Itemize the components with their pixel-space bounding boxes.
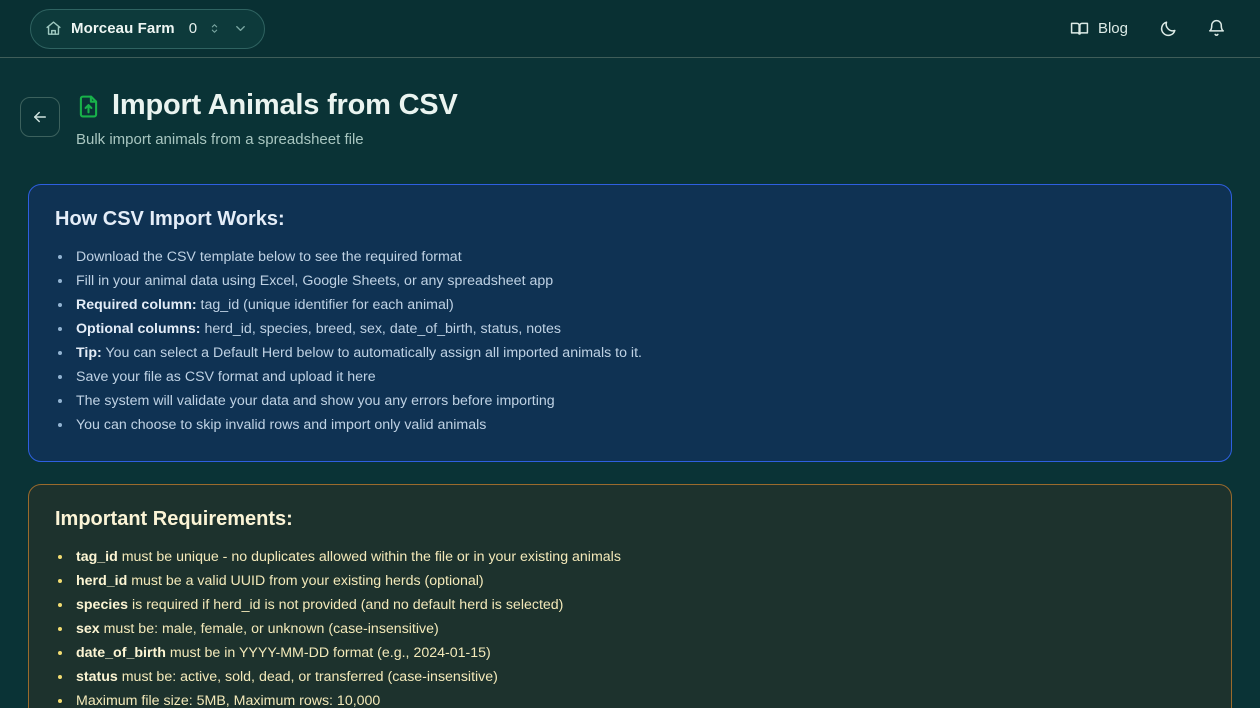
important-requirements-card: Important Requirements: tag_id must be u…	[28, 484, 1232, 708]
list-item-text: must be: active, sold, dead, or transfer…	[118, 669, 498, 685]
list-item: tag_id must be unique - no duplicates al…	[55, 545, 1205, 569]
list-item-label: Tip:	[76, 345, 102, 361]
bell-icon	[1207, 19, 1226, 38]
moon-icon	[1159, 19, 1178, 38]
list-item: Fill in your animal data using Excel, Go…	[55, 269, 1205, 293]
list-item: Optional columns: herd_id, species, bree…	[55, 317, 1205, 341]
list-item: Download the CSV template below to see t…	[55, 245, 1205, 269]
warn-card-title: Important Requirements:	[55, 507, 1205, 532]
blog-link[interactable]: Blog	[1056, 9, 1142, 49]
list-item-text: Fill in your animal data using Excel, Go…	[76, 273, 553, 289]
list-item-label: date_of_birth	[76, 645, 166, 661]
list-item-text: must be in YYYY-MM-DD format (e.g., 2024…	[166, 645, 491, 661]
book-open-icon	[1070, 19, 1089, 38]
page-header: Import Animals from CSV Bulk import anim…	[0, 58, 1260, 150]
how-csv-import-works-card: How CSV Import Works: Download the CSV t…	[28, 184, 1232, 462]
list-item-text: Save your file as CSV format and upload …	[76, 369, 376, 385]
notifications-button[interactable]	[1194, 9, 1238, 49]
chevron-down-icon[interactable]	[233, 21, 248, 36]
list-item: You can choose to skip invalid rows and …	[55, 413, 1205, 437]
list-item-label: tag_id	[76, 549, 118, 565]
farm-name-label: Morceau Farm	[71, 20, 175, 37]
list-item-text: is required if herd_id is not provided (…	[128, 597, 563, 613]
list-item-label: sex	[76, 621, 100, 637]
list-item: date_of_birth must be in YYYY-MM-DD form…	[55, 641, 1205, 665]
list-item-text: The system will validate your data and s…	[76, 393, 555, 409]
theme-toggle-button[interactable]	[1146, 9, 1190, 49]
farm-selector[interactable]: Morceau Farm 0	[30, 9, 265, 49]
list-item-label: species	[76, 597, 128, 613]
list-item: The system will validate your data and s…	[55, 389, 1205, 413]
list-item: Required column: tag_id (unique identifi…	[55, 293, 1205, 317]
list-item-text: herd_id, species, breed, sex, date_of_bi…	[201, 321, 561, 337]
blog-label: Blog	[1098, 20, 1128, 37]
list-item-text: Download the CSV template below to see t…	[76, 249, 462, 265]
nav-actions: Blog	[1056, 9, 1238, 49]
list-item: herd_id must be a valid UUID from your e…	[55, 569, 1205, 593]
farm-count-label: 0	[189, 20, 197, 37]
list-item: status must be: active, sold, dead, or t…	[55, 665, 1205, 689]
list-item-text: You can select a Default Herd below to a…	[102, 345, 642, 361]
info-card-title: How CSV Import Works:	[55, 207, 1205, 232]
list-item-text: must be unique - no duplicates allowed w…	[118, 549, 621, 565]
list-item-text: Maximum file size: 5MB, Maximum rows: 10…	[76, 693, 380, 708]
back-button[interactable]	[20, 97, 60, 137]
page-title: Import Animals from CSV	[112, 88, 458, 122]
list-item-label: status	[76, 669, 118, 685]
list-item-label: Required column:	[76, 297, 197, 313]
page-subtitle: Bulk import animals from a spreadsheet f…	[76, 130, 458, 150]
page-title-row: Import Animals from CSV	[76, 88, 458, 122]
file-upload-icon	[76, 94, 101, 119]
list-item: Save your file as CSV format and upload …	[55, 365, 1205, 389]
list-item: sex must be: male, female, or unknown (c…	[55, 617, 1205, 641]
arrow-left-icon	[31, 108, 49, 126]
list-item-text: must be a valid UUID from your existing …	[127, 573, 483, 589]
list-item: Tip: You can select a Default Herd below…	[55, 341, 1205, 365]
info-cards-container: How CSV Import Works: Download the CSV t…	[0, 184, 1260, 708]
warn-card-bullet-list: tag_id must be unique - no duplicates al…	[55, 545, 1205, 708]
list-item-text: You can choose to skip invalid rows and …	[76, 417, 486, 433]
list-item: Maximum file size: 5MB, Maximum rows: 10…	[55, 689, 1205, 708]
list-item-label: Optional columns:	[76, 321, 201, 337]
home-icon	[45, 20, 62, 37]
list-item-label: herd_id	[76, 573, 127, 589]
list-item: species is required if herd_id is not pr…	[55, 593, 1205, 617]
list-item-text: tag_id (unique identifier for each anima…	[197, 297, 454, 313]
top-navigation-bar: Morceau Farm 0 Blog	[0, 0, 1260, 58]
info-card-bullet-list: Download the CSV template below to see t…	[55, 245, 1205, 437]
chevron-up-down-icon[interactable]	[208, 22, 221, 35]
list-item-text: must be: male, female, or unknown (case-…	[100, 621, 439, 637]
